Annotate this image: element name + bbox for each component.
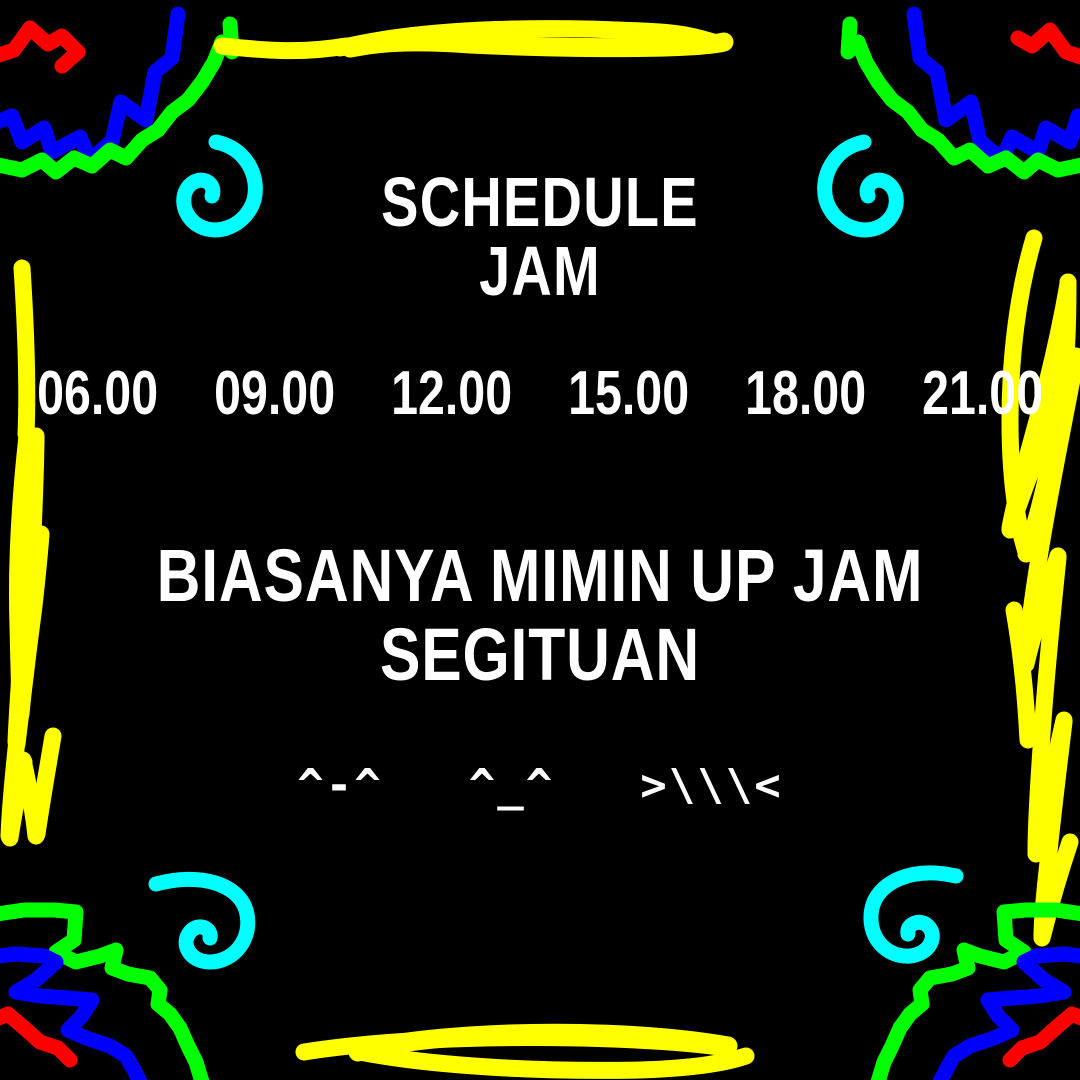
heading-block: SCHEDULE JAM: [0, 168, 1080, 305]
message-block: BIASANYA MIMIN UP JAM SEGITUAN: [0, 537, 1080, 694]
time-chip: 09.00: [214, 363, 335, 425]
times-row: 06.00 09.00 12.00 15.00 18.00 21.00: [0, 363, 1080, 425]
heading-line-1: SCHEDULE: [108, 168, 972, 237]
content-layer: SCHEDULE JAM 06.00 09.00 12.00 15.00 18.…: [0, 0, 1080, 1080]
poster-canvas: SCHEDULE JAM 06.00 09.00 12.00 15.00 18.…: [0, 0, 1080, 1080]
kaomoji-face: ^_^: [469, 764, 554, 808]
kaomoji-row: ^-^ ^_^ >\\\<: [0, 764, 1080, 808]
time-chip: 21.00: [922, 363, 1043, 425]
time-chip: 12.00: [391, 363, 512, 425]
time-chip: 06.00: [37, 363, 158, 425]
message-line-2: SEGITUAN: [97, 616, 983, 694]
time-chip: 15.00: [568, 363, 689, 425]
message-line-1: BIASANYA MIMIN UP JAM: [97, 537, 983, 615]
heading-line-2: JAM: [108, 237, 972, 306]
kaomoji-face: ^-^: [297, 764, 382, 808]
time-chip: 18.00: [745, 363, 866, 425]
kaomoji-face: >\\\<: [640, 764, 782, 808]
